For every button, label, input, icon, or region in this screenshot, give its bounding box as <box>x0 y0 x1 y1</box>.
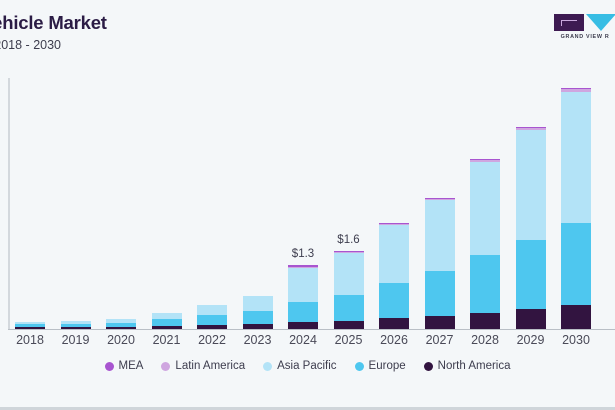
legend-label: MEA <box>119 360 144 372</box>
bar-stack <box>61 321 91 328</box>
legend-swatch-icon <box>263 362 272 371</box>
bar-segment-europe[interactable] <box>288 302 318 323</box>
x-tick-2029: 2029 <box>506 333 556 347</box>
bar-stack <box>379 223 409 329</box>
bar-group[interactable] <box>152 313 182 328</box>
bar-segment-north-america[interactable] <box>516 309 546 328</box>
legend-item-asia-pacific[interactable]: Asia Pacific <box>263 360 336 372</box>
bar-group[interactable] <box>470 159 500 328</box>
x-tick-2019: 2019 <box>51 333 101 347</box>
brand-logo: GRAND VIEW R <box>541 13 615 40</box>
x-tick-2021: 2021 <box>142 333 192 347</box>
logo-text: GRAND VIEW R <box>541 34 615 40</box>
x-axis-tick-labels: 2018201920202021202220232024202520262027… <box>0 333 615 351</box>
logo-marks <box>541 13 615 31</box>
bar-group[interactable] <box>197 305 227 328</box>
legend-swatch-icon <box>161 362 170 371</box>
bar-group[interactable] <box>243 296 273 328</box>
legend-label: Latin America <box>175 360 245 372</box>
bar-segment-asia-pacific[interactable] <box>470 162 500 255</box>
chart-subtitle: y Region, 2018 - 2030 <box>0 37 107 54</box>
bar-segment-asia-pacific[interactable] <box>288 268 318 302</box>
chart-header: ctric Vehicle Market y Region, 2018 - 20… <box>0 0 615 60</box>
bars-layer: $1.3$1.6 <box>0 78 615 330</box>
bar-group[interactable] <box>379 223 409 329</box>
legend-item-latin-america[interactable]: Latin America <box>161 360 245 372</box>
bar-stack <box>425 198 455 329</box>
bar-value-label: $1.3 <box>292 248 314 260</box>
bar-group[interactable] <box>61 321 91 328</box>
bar-segment-europe[interactable] <box>197 315 227 325</box>
legend-label: North America <box>438 360 511 372</box>
bar-segment-asia-pacific[interactable] <box>561 92 591 223</box>
bar-segment-europe[interactable] <box>334 295 364 321</box>
bar-segment-asia-pacific[interactable] <box>334 253 364 294</box>
x-tick-2023: 2023 <box>233 333 283 347</box>
bar-segment-asia-pacific[interactable] <box>197 305 227 315</box>
bar-value-label: $1.6 <box>337 234 359 246</box>
bar-segment-europe[interactable] <box>425 271 455 316</box>
bar-group[interactable] <box>106 319 136 329</box>
bar-segment-asia-pacific[interactable] <box>425 200 455 271</box>
x-tick-2028: 2028 <box>460 333 510 347</box>
bar-segment-europe[interactable] <box>470 255 500 313</box>
bar-segment-north-america[interactable] <box>334 321 364 329</box>
logo-triangle-icon <box>586 14 615 31</box>
bar-segment-europe[interactable] <box>516 240 546 309</box>
legend-swatch-icon <box>355 362 364 371</box>
bar-segment-europe[interactable] <box>152 319 182 326</box>
legend-item-mea[interactable]: MEA <box>105 360 144 372</box>
bar-stack <box>470 159 500 328</box>
x-tick-2027: 2027 <box>415 333 465 347</box>
bar-stack <box>152 313 182 328</box>
page-title: ctric Vehicle Market <box>0 12 107 34</box>
legend-label: Europe <box>369 360 406 372</box>
bar-stack <box>516 127 546 329</box>
bar-group[interactable] <box>516 127 546 329</box>
bar-segment-north-america[interactable] <box>379 318 409 328</box>
x-tick-2026: 2026 <box>369 333 419 347</box>
x-tick-2018: 2018 <box>5 333 55 347</box>
bar-segment-europe[interactable] <box>379 283 409 319</box>
bar-stack <box>561 88 591 329</box>
bar-segment-europe[interactable] <box>561 223 591 306</box>
logo-square-icon <box>554 14 584 31</box>
x-tick-2030: 2030 <box>551 333 601 347</box>
chart-legend: MEALatin AmericaAsia PacificEuropeNorth … <box>0 360 615 372</box>
bar-stack <box>106 319 136 329</box>
bar-group[interactable]: $1.6 <box>334 234 364 329</box>
x-tick-2022: 2022 <box>187 333 237 347</box>
x-tick-2024: 2024 <box>278 333 328 347</box>
legend-swatch-icon <box>424 362 433 371</box>
bar-group[interactable]: $1.3 <box>288 248 318 328</box>
bar-group[interactable] <box>425 198 455 329</box>
legend-swatch-icon <box>105 362 114 371</box>
x-axis-line <box>8 329 615 331</box>
bar-stack <box>197 305 227 328</box>
bar-segment-europe[interactable] <box>243 311 273 324</box>
bar-group[interactable] <box>561 88 591 329</box>
bar-segment-north-america[interactable] <box>425 316 455 329</box>
bar-segment-asia-pacific[interactable] <box>379 225 409 283</box>
bar-stack <box>288 265 318 328</box>
legend-item-europe[interactable]: Europe <box>355 360 406 372</box>
bar-segment-asia-pacific[interactable] <box>516 130 546 240</box>
bar-stack <box>243 296 273 328</box>
chart-card: ctric Vehicle Market y Region, 2018 - 20… <box>0 0 615 410</box>
bar-segment-asia-pacific[interactable] <box>243 296 273 310</box>
bar-stack <box>334 251 364 329</box>
plot-area: $1.3$1.6 <box>0 78 615 330</box>
legend-item-north-america[interactable]: North America <box>424 360 511 372</box>
x-tick-2020: 2020 <box>96 333 146 347</box>
bar-segment-north-america[interactable] <box>561 305 591 328</box>
x-tick-2025: 2025 <box>324 333 374 347</box>
bar-segment-north-america[interactable] <box>470 313 500 329</box>
legend-label: Asia Pacific <box>277 360 336 372</box>
title-block: ctric Vehicle Market y Region, 2018 - 20… <box>0 12 107 54</box>
